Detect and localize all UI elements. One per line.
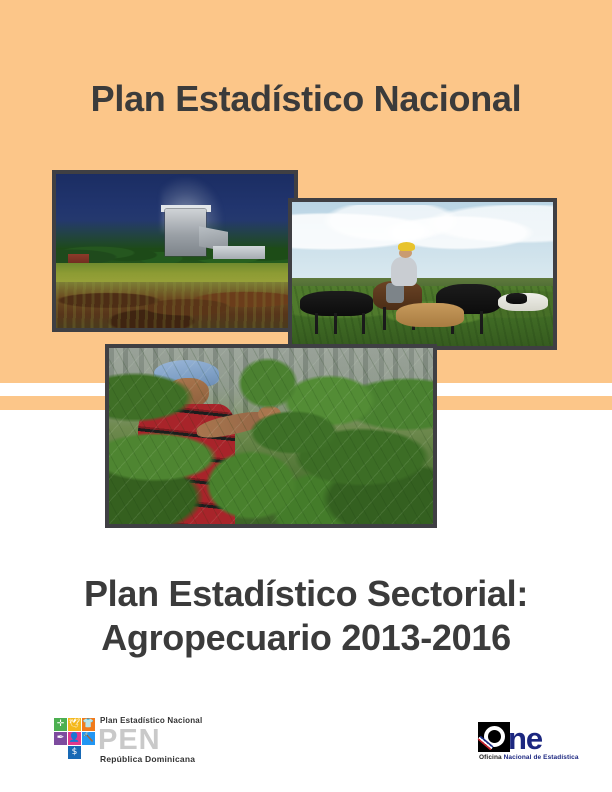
pen-wordmark: PEN bbox=[98, 724, 161, 757]
one-wordmark: ne bbox=[508, 721, 542, 757]
page-title: Plan Estadístico Nacional bbox=[0, 78, 612, 120]
rider-legs bbox=[386, 283, 404, 303]
cow-leg bbox=[480, 311, 483, 334]
leaf-texture bbox=[109, 348, 433, 524]
cattle-herd-photo bbox=[288, 198, 557, 350]
rural-processing-plant-photo bbox=[52, 170, 298, 332]
photo-3-content bbox=[109, 348, 433, 524]
health-icon: ✛ bbox=[54, 718, 67, 731]
farmer-pepper-crop-photo bbox=[105, 344, 437, 528]
cow-holstein-patch bbox=[506, 293, 527, 305]
one-o-mark bbox=[478, 722, 510, 752]
one-subtitle: Oficina Nacional de Estadística bbox=[479, 754, 579, 761]
one-subtitle-b: Nacional de bbox=[504, 754, 544, 761]
subtitle-block: Plan Estadístico Sectorial: Agropecuario… bbox=[0, 572, 612, 660]
rider-torso bbox=[391, 257, 417, 286]
photo-1-content bbox=[56, 174, 294, 328]
shirt-icon: 👕 bbox=[82, 718, 95, 731]
bird-icon: 🕊 bbox=[68, 718, 81, 731]
pen-logo: ✛🕊👕✒👤🔨$ Plan Estadístico Nacional PEN Re… bbox=[54, 714, 186, 770]
pen-icon-grid: ✛🕊👕✒👤🔨$ bbox=[54, 718, 95, 759]
empty-tile bbox=[54, 746, 67, 759]
subtitle-line-1: Plan Estadístico Sectorial: bbox=[0, 572, 612, 616]
rider-yellow-cap bbox=[398, 242, 415, 251]
one-subtitle-a: Oficina bbox=[479, 754, 504, 761]
clouds bbox=[292, 205, 553, 271]
cow-leg bbox=[334, 313, 337, 335]
pen-bottom-text: República Dominicana bbox=[100, 754, 195, 764]
subtitle-line-2: Agropecuario 2013-2016 bbox=[0, 616, 612, 660]
cow-tan-front bbox=[396, 303, 464, 327]
pen-tool-icon: ✒ bbox=[54, 732, 67, 745]
horse-leg bbox=[383, 307, 386, 330]
money-icon: $ bbox=[68, 746, 81, 759]
tilled-field bbox=[56, 282, 294, 328]
cow-leg bbox=[362, 313, 365, 335]
empty-tile bbox=[82, 746, 95, 759]
one-subtitle-c: Estadística bbox=[543, 754, 578, 761]
cow-leg bbox=[315, 313, 318, 335]
hammer-icon: 🔨 bbox=[82, 732, 95, 745]
cover-page: Plan Estadístico Nacional bbox=[0, 0, 612, 792]
one-logo: ne Oficina Nacional de Estadística bbox=[478, 722, 578, 764]
person-icon: 👤 bbox=[68, 732, 81, 745]
photo-2-content bbox=[292, 202, 553, 346]
warehouse-shed bbox=[213, 246, 265, 258]
